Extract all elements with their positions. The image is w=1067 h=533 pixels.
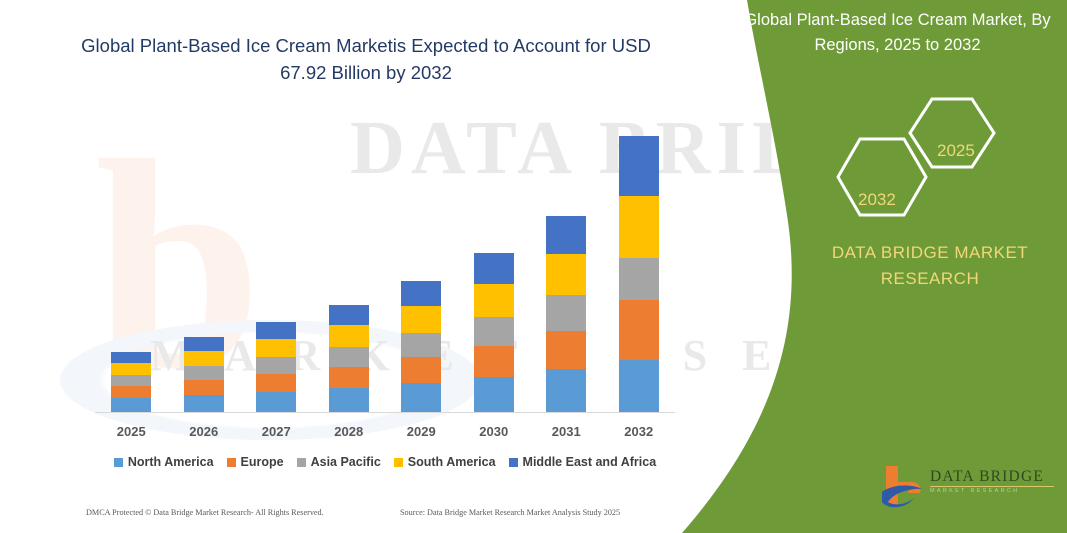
bar-segment bbox=[619, 360, 659, 412]
bar-segment bbox=[546, 216, 586, 254]
bar-segment bbox=[184, 380, 224, 395]
stacked-bar-chart bbox=[95, 130, 675, 412]
bar-segment bbox=[329, 388, 369, 412]
x-axis-label-2028: 2028 bbox=[313, 424, 385, 439]
bar-segment bbox=[184, 337, 224, 351]
legend-item[interactable]: Asia Pacific bbox=[297, 455, 381, 469]
bar-segment bbox=[474, 346, 514, 377]
stacked-bar-2028 bbox=[329, 305, 369, 412]
legend-item[interactable]: Middle East and Africa bbox=[509, 455, 657, 469]
legend-swatch-icon bbox=[297, 458, 306, 467]
bar-segment bbox=[401, 357, 441, 383]
bar-segment bbox=[401, 306, 441, 333]
bar-column bbox=[603, 130, 675, 412]
panel-title: Global Plant-Based Ice Cream Market, By … bbox=[735, 8, 1060, 58]
infographic-root: b DATA BRIDGE M A R K E T R E S E A R C … bbox=[0, 0, 1067, 533]
stacked-bar-2029 bbox=[401, 281, 441, 412]
x-axis-label-2031: 2031 bbox=[530, 424, 602, 439]
x-axis-label-2029: 2029 bbox=[385, 424, 457, 439]
chart-title: Global Plant-Based Ice Cream Marketis Ex… bbox=[60, 32, 672, 86]
x-axis-line bbox=[95, 412, 675, 413]
bar-column bbox=[385, 130, 457, 412]
logo-tagline: MARKET RESEARCH bbox=[930, 488, 1019, 494]
stacked-bar-2032 bbox=[619, 136, 659, 412]
bar-segment bbox=[111, 363, 151, 375]
legend-item[interactable]: North America bbox=[114, 455, 214, 469]
hexagon-label-2025: 2025 bbox=[937, 141, 975, 161]
x-axis-label-2026: 2026 bbox=[168, 424, 240, 439]
bar-column bbox=[168, 130, 240, 412]
stacked-bar-2027 bbox=[256, 322, 296, 412]
bar-segment bbox=[184, 395, 224, 412]
bar-segment bbox=[329, 347, 369, 367]
bar-column bbox=[240, 130, 312, 412]
footer-source: Source: Data Bridge Market Research Mark… bbox=[400, 508, 620, 517]
bar-segment bbox=[619, 300, 659, 360]
legend-item[interactable]: Europe bbox=[227, 455, 284, 469]
bar-segment bbox=[111, 375, 151, 386]
bar-segment bbox=[184, 366, 224, 380]
bar-segment bbox=[619, 136, 659, 196]
hexagon-icons bbox=[820, 95, 1010, 220]
bar-segment bbox=[329, 367, 369, 388]
footer-copyright: DMCA Protected © Data Bridge Market Rese… bbox=[86, 508, 324, 517]
bar-segment bbox=[401, 281, 441, 306]
legend-item[interactable]: South America bbox=[394, 455, 496, 469]
hexagon-label-2032: 2032 bbox=[858, 190, 896, 210]
bar-segment bbox=[111, 352, 151, 363]
hexagon-pair: 2025 2032 bbox=[820, 95, 1010, 220]
bar-segment bbox=[546, 295, 586, 331]
bar-segment bbox=[256, 374, 296, 392]
bar-segment bbox=[474, 377, 514, 412]
legend-label: South America bbox=[408, 455, 496, 469]
bar-segment bbox=[546, 331, 586, 369]
bar-column bbox=[530, 130, 602, 412]
bar-segment bbox=[184, 351, 224, 366]
chart-legend: North AmericaEuropeAsia PacificSouth Ame… bbox=[95, 455, 675, 469]
x-axis-label-2030: 2030 bbox=[458, 424, 530, 439]
bar-segment bbox=[619, 196, 659, 258]
x-axis-label-2027: 2027 bbox=[240, 424, 312, 439]
bar-segment bbox=[474, 253, 514, 284]
legend-swatch-icon bbox=[114, 458, 123, 467]
bar-segment bbox=[256, 357, 296, 374]
bar-segment bbox=[111, 398, 151, 412]
x-axis-label-2032: 2032 bbox=[603, 424, 675, 439]
stacked-bar-2025 bbox=[111, 352, 151, 412]
bar-segment bbox=[329, 305, 369, 325]
legend-label: North America bbox=[128, 455, 214, 469]
bar-segment bbox=[401, 383, 441, 412]
bar-segment bbox=[256, 392, 296, 412]
databridge-logo: DATA BRIDGE MARKET RESEARCH bbox=[878, 462, 1058, 514]
bar-segment bbox=[546, 254, 586, 295]
x-axis-labels: 20252026202720282029203020312032 bbox=[95, 424, 675, 439]
legend-swatch-icon bbox=[394, 458, 403, 467]
bar-column bbox=[458, 130, 530, 412]
logo-divider bbox=[930, 486, 1054, 487]
legend-label: Middle East and Africa bbox=[523, 455, 657, 469]
bar-segment bbox=[329, 325, 369, 347]
bar-segment bbox=[474, 317, 514, 346]
x-axis-label-2025: 2025 bbox=[95, 424, 167, 439]
bar-segment bbox=[474, 284, 514, 317]
databridge-b-logo-icon bbox=[878, 462, 928, 512]
stacked-bar-2026 bbox=[184, 337, 224, 412]
legend-swatch-icon bbox=[509, 458, 518, 467]
bar-segment bbox=[546, 369, 586, 412]
logo-wordmark: DATA BRIDGE bbox=[930, 468, 1044, 486]
bar-segment bbox=[111, 386, 151, 398]
bar-segment bbox=[619, 258, 659, 300]
bar-segment bbox=[401, 333, 441, 357]
legend-swatch-icon bbox=[227, 458, 236, 467]
bar-segment bbox=[256, 339, 296, 357]
bar-column bbox=[313, 130, 385, 412]
bar-column bbox=[95, 130, 167, 412]
stacked-bar-2030 bbox=[474, 253, 514, 412]
brand-name: DATA BRIDGE MARKET RESEARCH bbox=[790, 240, 1067, 292]
legend-label: Asia Pacific bbox=[311, 455, 381, 469]
bar-segment bbox=[256, 322, 296, 339]
legend-label: Europe bbox=[241, 455, 284, 469]
stacked-bar-2031 bbox=[546, 216, 586, 412]
